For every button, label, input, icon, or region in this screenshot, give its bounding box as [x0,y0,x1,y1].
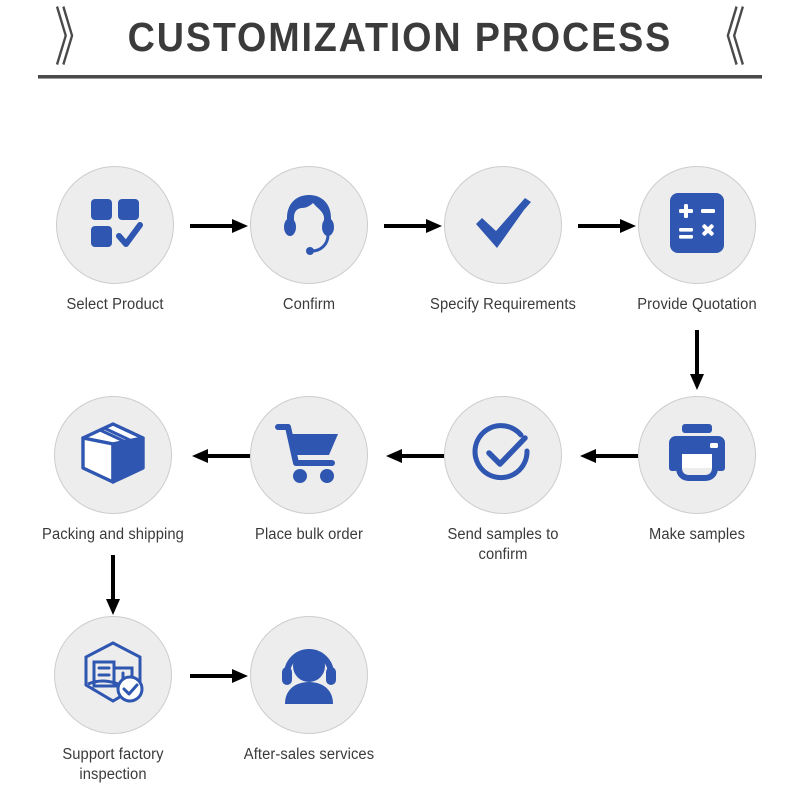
step-icon-circle [638,396,756,514]
step-label: Provide Quotation [616,295,778,315]
process-step-support-factory-inspection[interactable]: Support factory inspection [28,616,198,786]
package-box-icon [78,418,148,493]
process-step-confirm[interactable]: Confirm [224,166,394,315]
page-title: CUSTOMIZATION PROCESS [128,14,672,61]
step-label: After-sales services [228,745,390,765]
grid-check-icon [83,191,147,260]
step-icon-circle [56,166,174,284]
calculator-icon [666,190,728,261]
step-label: Send samples to confirm [422,525,584,566]
process-step-place-bulk-order[interactable]: Place bulk order [224,396,394,545]
arrow-step6-step7 [384,446,444,466]
process-step-after-sales-services[interactable]: After-sales services [224,616,394,765]
arrow-step8-step9 [103,555,123,617]
process-step-provide-quotation[interactable]: Provide Quotation [612,166,782,315]
circle-check-icon [469,419,537,492]
step-icon-circle [54,616,172,734]
printer-icon [664,422,730,489]
step-label: Specify Requirements [422,295,584,315]
process-step-specify-requirements[interactable]: Specify Requirements [418,166,588,315]
step-label: Make samples [616,525,778,545]
right-chevron-icon: 《 [705,5,745,68]
step-icon-circle [250,616,368,734]
step-label: Packing and shipping [32,525,194,545]
headset-agent-icon [275,189,343,262]
step-icon-circle [638,166,756,284]
arrow-step2-step3 [384,216,444,236]
step-icon-circle [250,166,368,284]
step-icon-circle [250,396,368,514]
process-step-packing-and-shipping[interactable]: Packing and shipping [28,396,198,545]
step-label: Select Product [34,295,196,315]
process-step-select-product[interactable]: Select Product [30,166,200,315]
factory-inspection-icon [78,638,148,713]
process-step-send-samples-to-confirm[interactable]: Send samples to confirm [418,396,588,566]
step-icon-circle [444,396,562,514]
shopping-cart-icon [274,421,344,490]
support-person-icon [275,640,343,711]
arrow-step5-step6 [578,446,638,466]
arrow-step7-step8 [190,446,250,466]
step-label: Support factory inspection [32,745,194,786]
step-icon-circle [444,166,562,284]
step-label: Confirm [228,295,390,315]
title-divider [38,75,762,79]
arrow-step9-step10 [190,666,250,686]
title-row: 》 CUSTOMIZATION PROCESS 《 [0,8,800,66]
step-label: Place bulk order [228,525,390,545]
step-icon-circle [54,396,172,514]
page-header: 》 CUSTOMIZATION PROCESS 《 [0,0,800,92]
checkmark-icon [468,188,538,263]
arrow-step3-step4 [578,216,638,236]
process-step-make-samples[interactable]: Make samples [612,396,782,545]
arrow-step4-step5 [687,330,707,392]
left-chevron-icon: 》 [55,5,95,68]
arrow-step1-step2 [190,216,250,236]
